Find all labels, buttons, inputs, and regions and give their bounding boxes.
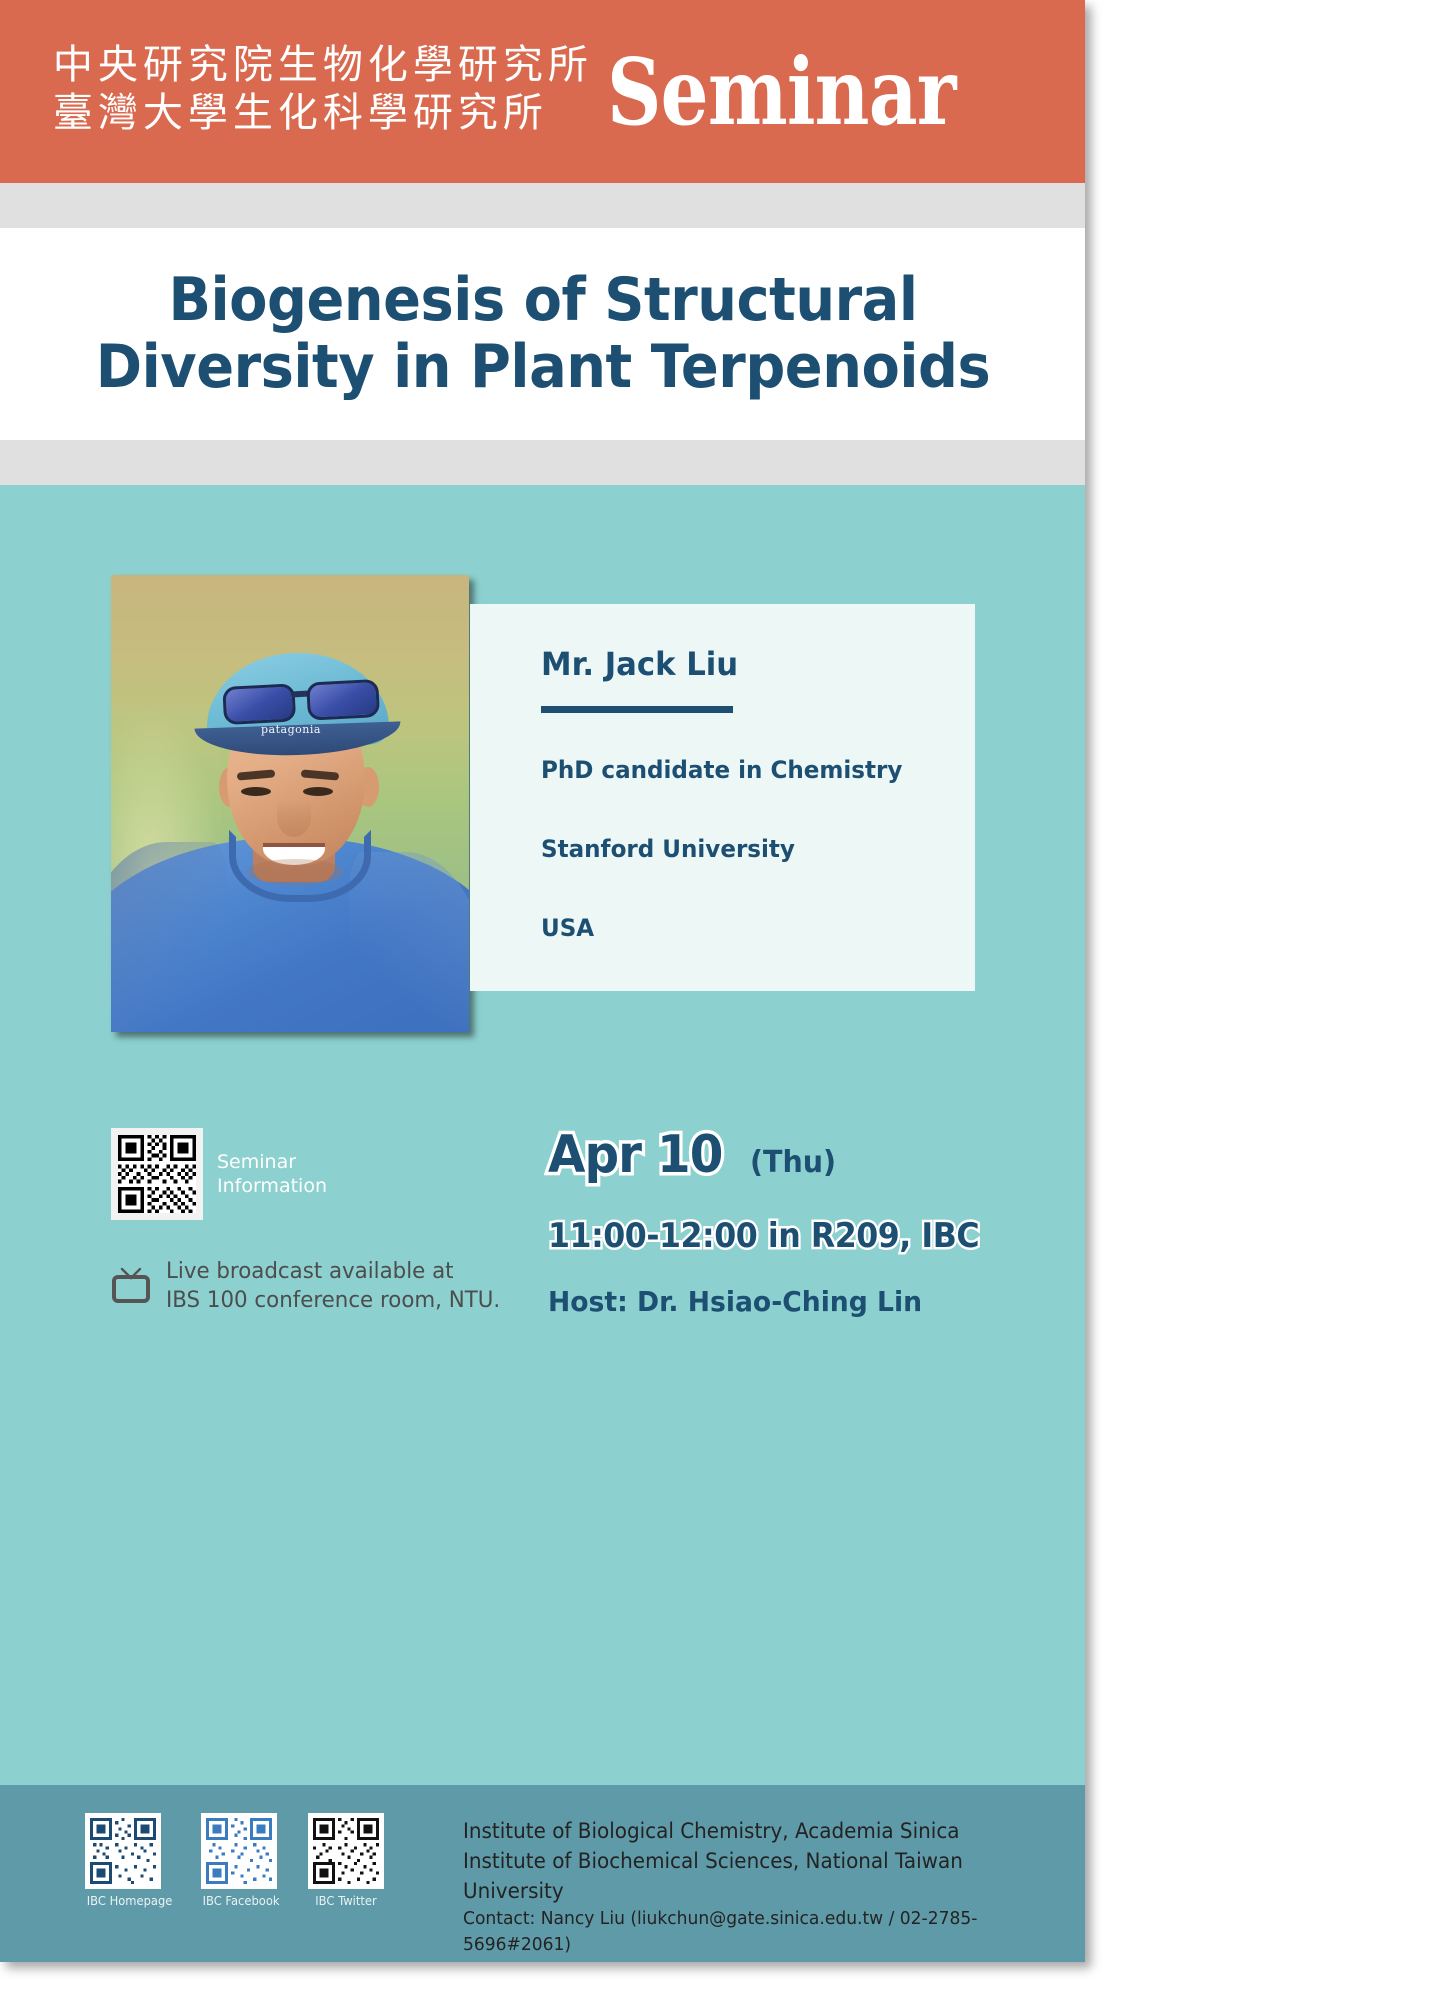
footer-qr-homepage-code[interactable] xyxy=(85,1813,161,1889)
seminar-qr-label: Seminar Information xyxy=(217,1150,327,1199)
org-line-2: 臺灣大學生化科學研究所 xyxy=(53,90,593,137)
divider-stripe-bottom xyxy=(0,440,1085,485)
photo-eye-left xyxy=(241,787,271,796)
photo-shirt-shade-right xyxy=(349,852,469,1032)
speaker-affiliation: Stanford University xyxy=(541,835,795,863)
footer-contact-line: Contact: Nancy Liu (liukchun@gate.sinica… xyxy=(463,1906,1054,1957)
photo-chin-shadow xyxy=(247,859,343,885)
photo-eye-right xyxy=(303,787,333,796)
speaker-photo: patagonia xyxy=(111,575,469,1032)
footer-institute-line-2: Institute of Biochemical Sciences, Natio… xyxy=(463,1847,1054,1907)
org-line-1: 中央研究院生物化學研究所 xyxy=(53,42,593,89)
event-day-of-week: (Thu) xyxy=(750,1145,836,1180)
header-content: 中央研究院生物化學研究所 臺灣大學生化科學研究所 Seminar xyxy=(53,42,1032,136)
photo-shirt-shade-left xyxy=(111,842,227,1032)
poster-header: 中央研究院生物化學研究所 臺灣大學生化科學研究所 Seminar xyxy=(0,0,1085,183)
speaker-underline xyxy=(541,706,733,713)
footer-qr-group: IBC Homepage xyxy=(85,1813,384,1908)
footer-contact-block: Institute of Biological Chemistry, Acade… xyxy=(463,1817,1054,1958)
event-date: Apr 10 xyxy=(548,1125,722,1185)
divider-stripe-top xyxy=(0,183,1085,228)
footer-qr-facebook-label: IBC Facebook xyxy=(203,1894,280,1908)
live-broadcast-text: Live broadcast available at IBS 100 conf… xyxy=(166,1258,500,1315)
qr-icon xyxy=(313,1818,379,1884)
qr-icon xyxy=(90,1818,156,1884)
seminar-wordmark: Seminar xyxy=(607,49,956,136)
speaker-country: USA xyxy=(541,914,594,942)
qr-icon xyxy=(206,1818,272,1884)
event-host: Host: Dr. Hsiao-Ching Lin xyxy=(548,1285,922,1318)
poster-footer: IBC Homepage xyxy=(0,1785,1085,1962)
photo-nose xyxy=(277,799,311,837)
footer-qr-facebook[interactable]: IBC Facebook xyxy=(201,1813,281,1908)
event-time-location: 11:00-12:00 in R209, IBC xyxy=(548,1216,979,1256)
sunglasses-lens-left xyxy=(222,683,296,725)
speaker-position: PhD candidate in Chemistry xyxy=(541,756,902,784)
speaker-name: Mr. Jack Liu xyxy=(541,645,738,683)
photo-cap-logo: patagonia xyxy=(261,723,321,736)
seminar-poster: 中央研究院生物化學研究所 臺灣大學生化科學研究所 Seminar Biogene… xyxy=(0,0,1441,2008)
live-broadcast-info: Live broadcast available at IBS 100 conf… xyxy=(111,1258,510,1315)
organization-names: 中央研究院生物化學研究所 臺灣大學生化科學研究所 xyxy=(53,42,593,136)
sunglasses-icon xyxy=(222,675,380,723)
sunglasses-lens-right xyxy=(306,679,380,721)
footer-qr-homepage-label: IBC Homepage xyxy=(87,1894,173,1908)
event-date-row: Apr 10 (Thu) xyxy=(548,1125,840,1185)
footer-qr-homepage[interactable]: IBC Homepage xyxy=(85,1813,174,1908)
qr-icon xyxy=(118,1135,196,1213)
seminar-qr-code[interactable] xyxy=(111,1128,203,1220)
footer-institute-line-1: Institute of Biological Chemistry, Acade… xyxy=(463,1817,1054,1847)
footer-qr-twitter-code[interactable] xyxy=(308,1813,384,1889)
seminar-information-qr-group[interactable]: Seminar Information xyxy=(111,1128,327,1220)
footer-qr-twitter-label: IBC Twitter xyxy=(310,1894,383,1908)
footer-qr-twitter[interactable]: IBC Twitter xyxy=(308,1813,384,1908)
speaker-info-panel: Mr. Jack Liu PhD candidate in Chemistry … xyxy=(470,604,975,991)
page-title: Biogenesis of Structural Diversity in Pl… xyxy=(68,267,1017,401)
poster-board: 中央研究院生物化學研究所 臺灣大學生化科學研究所 Seminar Biogene… xyxy=(0,0,1085,1962)
footer-qr-facebook-code[interactable] xyxy=(201,1813,277,1889)
title-band: Biogenesis of Structural Diversity in Pl… xyxy=(0,228,1085,440)
television-icon xyxy=(111,1266,151,1309)
